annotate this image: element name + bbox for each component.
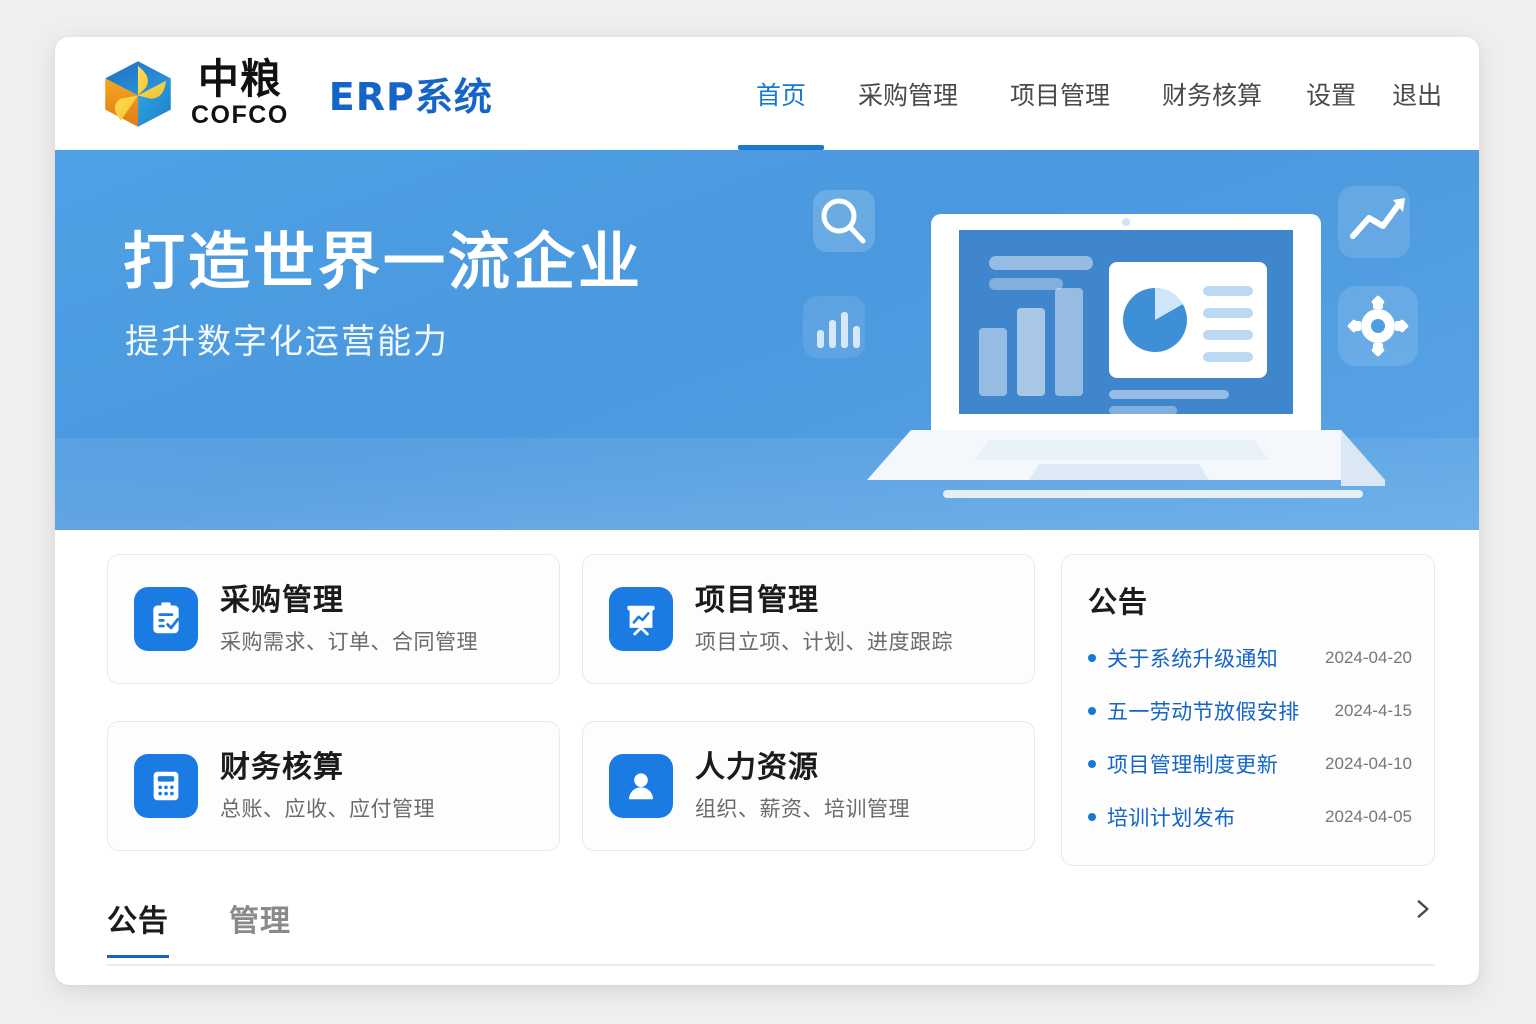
- main-nav: 首页 采购管理 项目管理 财务核算 设置 退出: [730, 37, 1460, 150]
- bullet-dot-icon: [1088, 654, 1096, 662]
- hero-text-block: 打造世界一流企业 提升数字化运营能力: [123, 228, 643, 363]
- feature-card-hr[interactable]: 人力资源 组织、薪资、培训管理: [582, 721, 1035, 851]
- app-header: 中粮 COFCO ERP系统 首页 采购管理 项目管理 财务核算 设置 退出: [55, 37, 1479, 150]
- feature-card-project[interactable]: 项目管理 项目立项、计划、进度跟踪: [582, 554, 1035, 684]
- announcement-link[interactable]: 项目管理制度更新: [1107, 749, 1278, 779]
- announcements-panel: 公告 关于系统升级通知 2024-04-20 五一劳动节放假安排 2024-4-…: [1061, 554, 1435, 866]
- hero-banner: 打造世界一流企业 提升数字化运营能力: [55, 150, 1479, 530]
- feature-title: 项目管理: [695, 582, 953, 620]
- announcement-date: 2024-4-15: [1324, 701, 1412, 721]
- announcement-item[interactable]: 培训计划发布 2024-04-05: [1088, 802, 1412, 832]
- nav-item-finance[interactable]: 财务核算: [1136, 37, 1288, 150]
- bottom-tabbar: 公告 管理: [107, 896, 1435, 966]
- main-content: 采购管理 采购需求、订单、合同管理 项目管理 项目立项、计划、进度跟踪: [55, 530, 1479, 866]
- laptop-dashboard-illustration: [793, 168, 1453, 518]
- hero-title: 打造世界一流企业: [123, 228, 643, 296]
- bullet-dot-icon: [1088, 813, 1096, 821]
- feature-card-finance[interactable]: 财务核算 总账、应收、应付管理: [107, 721, 560, 851]
- nav-item-home[interactable]: 首页: [730, 37, 832, 150]
- search-icon: [813, 190, 875, 252]
- feature-desc: 项目立项、计划、进度跟踪: [695, 626, 953, 656]
- announcement-date: 2024-04-05: [1315, 807, 1412, 827]
- calculator-icon: [134, 754, 198, 818]
- nav-item-logout[interactable]: 退出: [1374, 37, 1460, 150]
- trend-line-icon: [1338, 186, 1410, 258]
- announcement-item[interactable]: 项目管理制度更新 2024-04-10: [1088, 749, 1412, 779]
- bullet-dot-icon: [1088, 707, 1096, 715]
- feature-text-block: 项目管理 项目立项、计划、进度跟踪: [695, 582, 953, 657]
- presentation-chart-icon: [609, 587, 673, 651]
- announcement-link[interactable]: 培训计划发布: [1107, 802, 1235, 832]
- feature-text-block: 财务核算 总账、应收、应付管理: [220, 749, 435, 824]
- feature-title: 财务核算: [220, 749, 435, 787]
- announcement-date: 2024-04-10: [1315, 754, 1412, 774]
- bar-chart-icon: [803, 296, 865, 358]
- chevron-right-icon[interactable]: [1409, 896, 1435, 936]
- nav-item-settings[interactable]: 设置: [1288, 37, 1374, 150]
- announcements-title: 公告: [1088, 579, 1412, 621]
- feature-desc: 总账、应收、应付管理: [220, 793, 435, 823]
- tab-management[interactable]: 管理: [229, 896, 309, 956]
- feature-cards-grid: 采购管理 采购需求、订单、合同管理 项目管理 项目立项、计划、进度跟踪: [107, 554, 1035, 866]
- announcement-date: 2024-04-20: [1315, 648, 1412, 668]
- clipboard-check-icon: [134, 587, 198, 651]
- brand-logo-group[interactable]: 中粮 COFCO ERP系统: [99, 55, 493, 133]
- system-title: ERP系统: [329, 66, 493, 121]
- announcement-item[interactable]: 五一劳动节放假安排 2024-4-15: [1088, 696, 1412, 726]
- user-icon: [609, 754, 673, 818]
- laptop-graphic: [867, 214, 1385, 498]
- announcement-link[interactable]: 五一劳动节放假安排: [1107, 696, 1300, 726]
- brand-name-block: 中粮 COFCO: [191, 59, 289, 128]
- gear-icon: [1338, 286, 1418, 366]
- nav-item-project[interactable]: 项目管理: [984, 37, 1136, 150]
- feature-title: 采购管理: [220, 582, 478, 620]
- brand-name-cn: 中粮: [198, 59, 282, 100]
- announcement-link[interactable]: 关于系统升级通知: [1107, 643, 1278, 673]
- app-window: 中粮 COFCO ERP系统 首页 采购管理 项目管理 财务核算 设置 退出 打…: [55, 37, 1479, 985]
- feature-desc: 组织、薪资、培训管理: [695, 793, 910, 823]
- bullet-dot-icon: [1088, 760, 1096, 768]
- hero-subtitle: 提升数字化运营能力: [125, 314, 643, 363]
- cofco-cube-logo-icon: [99, 55, 177, 133]
- brand-name-en: COFCO: [191, 103, 289, 128]
- feature-card-procurement[interactable]: 采购管理 采购需求、订单、合同管理: [107, 554, 560, 684]
- tab-announcements[interactable]: 公告: [107, 896, 187, 956]
- feature-title: 人力资源: [695, 749, 910, 787]
- announcement-item[interactable]: 关于系统升级通知 2024-04-20: [1088, 643, 1412, 673]
- feature-desc: 采购需求、订单、合同管理: [220, 626, 478, 656]
- nav-item-procurement[interactable]: 采购管理: [832, 37, 984, 150]
- feature-text-block: 人力资源 组织、薪资、培训管理: [695, 749, 910, 824]
- feature-text-block: 采购管理 采购需求、订单、合同管理: [220, 582, 478, 657]
